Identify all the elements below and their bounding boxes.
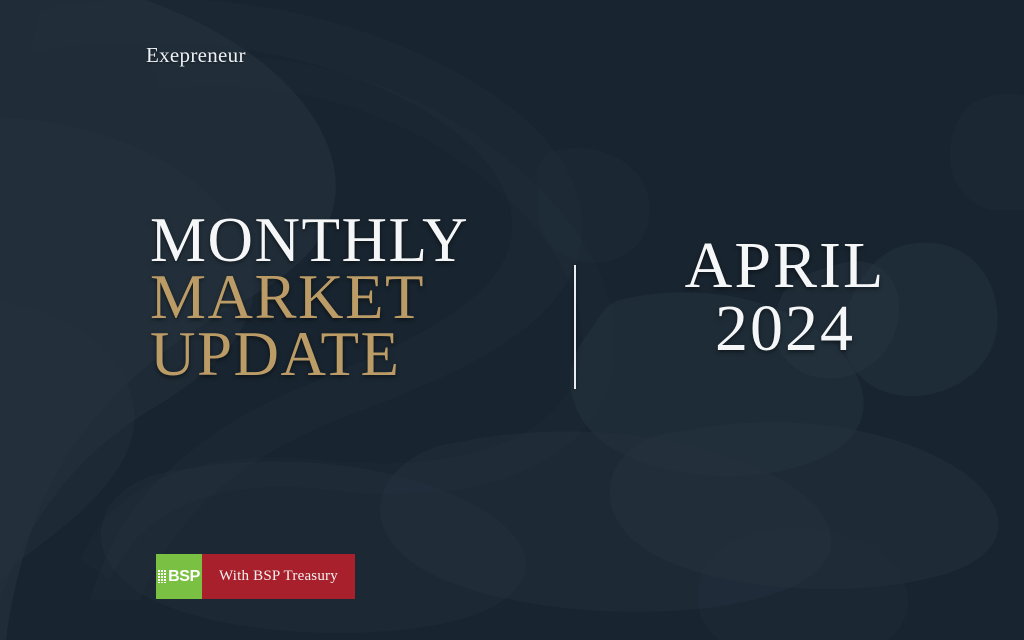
date-year: 2024	[620, 297, 950, 360]
bsp-logo-label: BSP	[168, 569, 200, 585]
bars-icon	[158, 570, 166, 583]
bsp-logo-badge: BSP	[156, 554, 202, 599]
hero-section: MONTHLY MARKET UPDATE APRIL 2024	[0, 212, 1024, 412]
title-line-market: MARKET	[150, 269, 550, 326]
footer-badges: BSP With BSP Treasury	[156, 554, 355, 599]
title-line-update: UPDATE	[150, 326, 550, 383]
title-block: MONTHLY MARKET UPDATE	[150, 212, 550, 383]
title-line-monthly: MONTHLY	[150, 212, 550, 269]
vertical-divider	[574, 265, 576, 389]
slide-canvas: Exepreneur MONTHLY MARKET UPDATE APRIL 2…	[0, 0, 1024, 640]
date-month: APRIL	[620, 234, 950, 297]
treasury-badge: With BSP Treasury	[202, 554, 355, 599]
treasury-badge-label: With BSP Treasury	[219, 568, 338, 585]
date-block: APRIL 2024	[620, 234, 950, 360]
brand-logo: Exepreneur	[146, 43, 246, 68]
